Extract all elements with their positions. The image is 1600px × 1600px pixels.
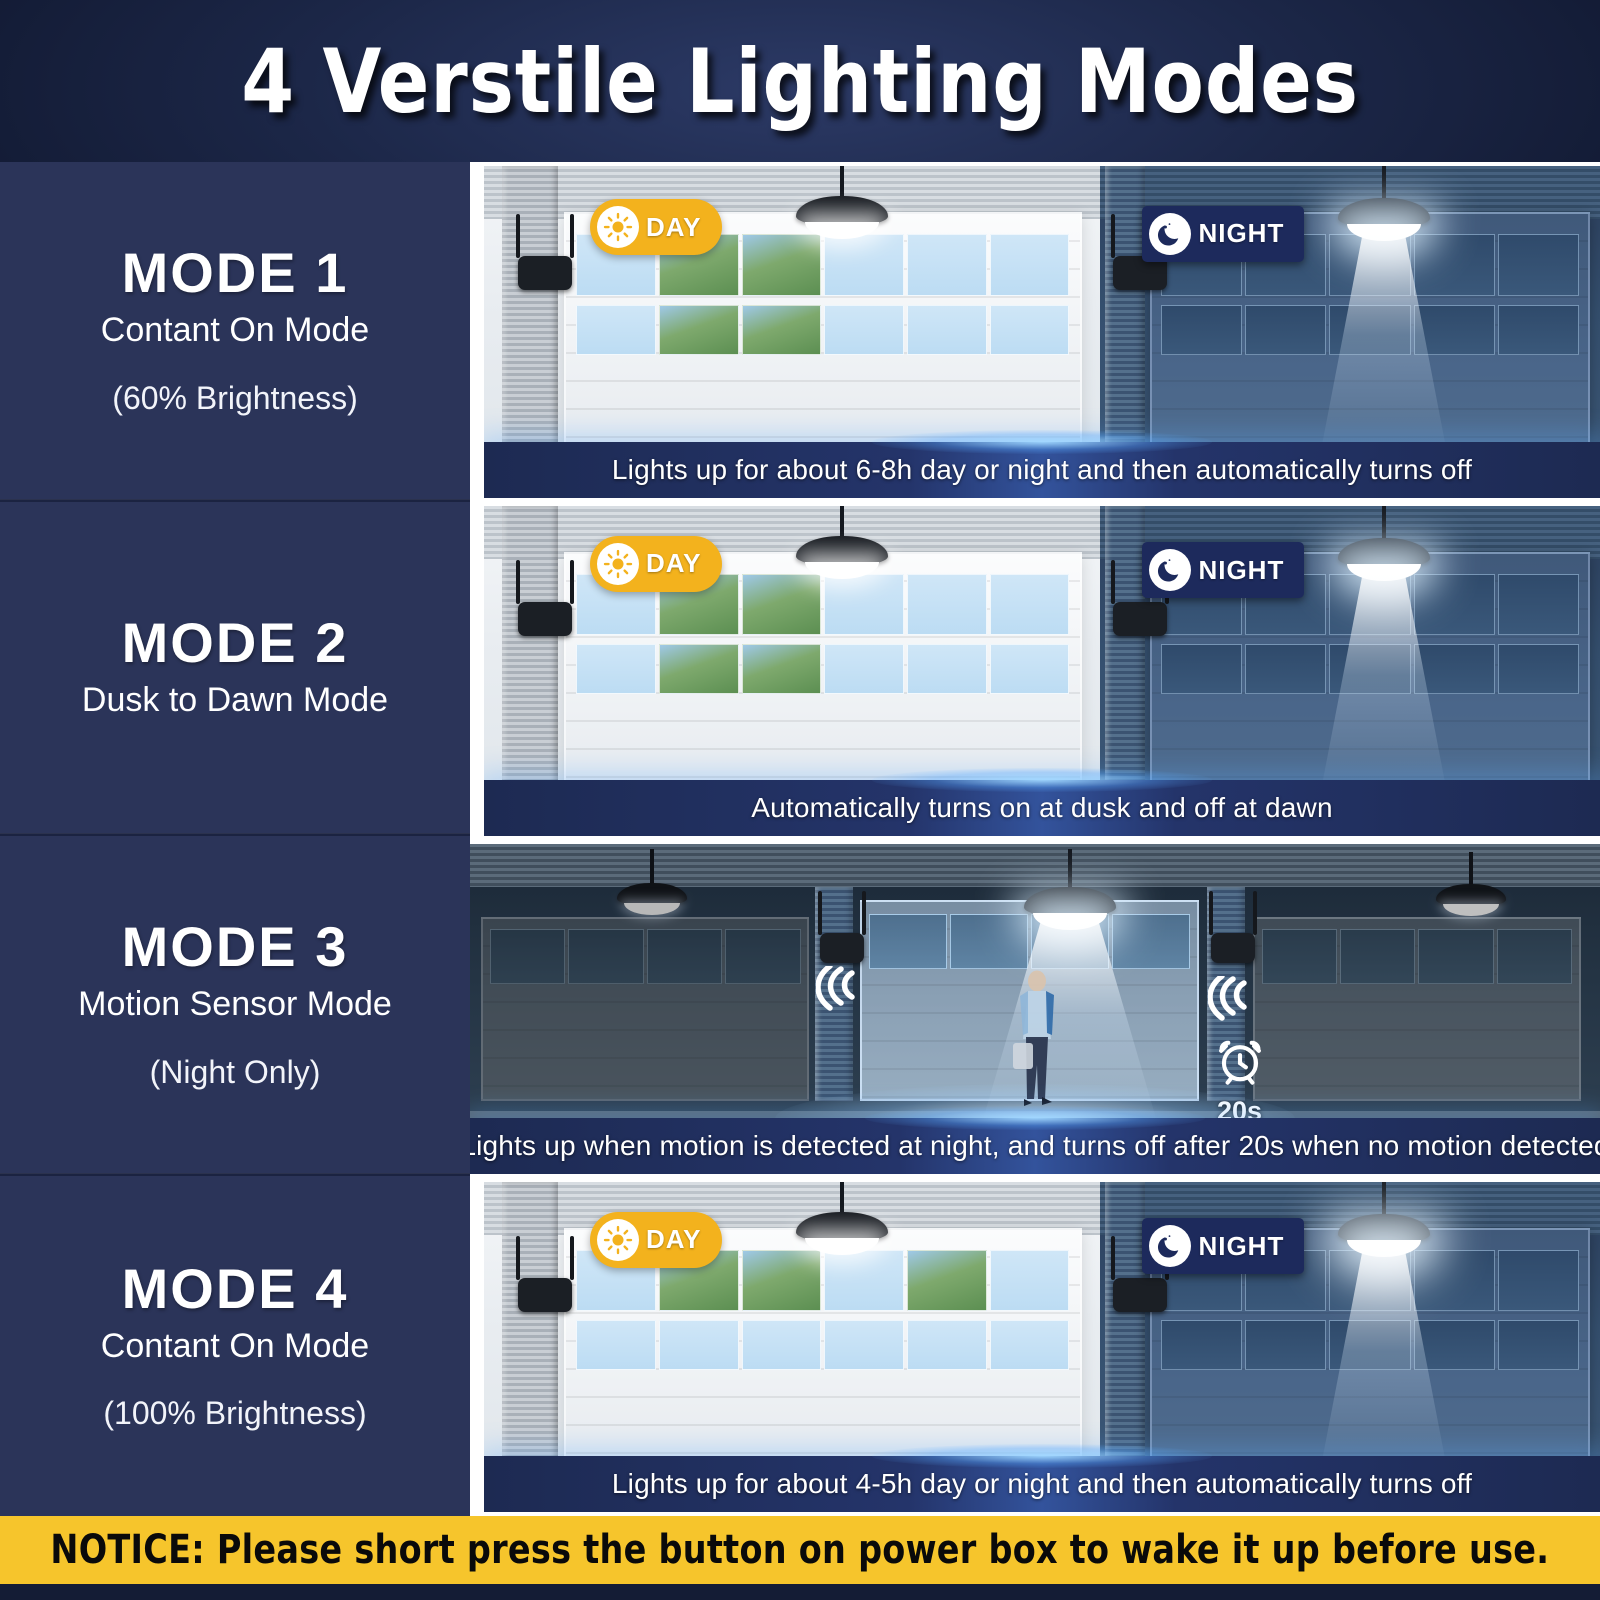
motion-waves-icon-left (816, 966, 874, 1012)
footer-strip (0, 1584, 1600, 1600)
door-window (1329, 574, 1410, 636)
hanging-lamp-day (796, 1182, 888, 1242)
hanging-lamp-left (617, 849, 687, 899)
door-window (869, 914, 947, 969)
night-badge-label: NIGHT (1198, 1231, 1284, 1262)
door-window (742, 644, 822, 694)
power-box (1113, 602, 1167, 636)
door-window (1414, 1320, 1495, 1370)
door-window (576, 305, 656, 356)
garage-door-bay-1 (481, 917, 809, 1102)
door-window (1329, 305, 1410, 356)
day-badge: DAY (590, 1212, 722, 1268)
mode-4-subtitle: Contant On Mode (101, 1325, 369, 1368)
door-window (1245, 1320, 1326, 1370)
caption-text: Lights up for about 6-8h day or night an… (612, 454, 1472, 486)
upper-wall-band (484, 506, 1100, 559)
door-window (1414, 644, 1495, 694)
moon-icon (1149, 1225, 1191, 1267)
scene-panel-mode-2: DAY NIGHT Automatically turns on at dusk… (484, 506, 1600, 836)
door-window (1161, 305, 1242, 356)
door-window (907, 574, 987, 636)
sidebar-item-mode-2[interactable]: MODE 2 Dusk to Dawn Mode (0, 502, 470, 836)
alarm-clock-icon (1214, 1035, 1266, 1087)
door-window (907, 644, 987, 694)
door-window (659, 305, 739, 356)
notice-text: NOTICE: Please short press the button on… (51, 1527, 1550, 1573)
door-window (659, 1320, 739, 1370)
door-window (1161, 644, 1242, 694)
door-window-row-bottom (1161, 305, 1580, 356)
door-window (1329, 644, 1410, 694)
door-window (1245, 644, 1326, 694)
door-window (1414, 1250, 1495, 1312)
door-window (907, 305, 987, 356)
door-window (990, 234, 1070, 296)
mode-2-title: MODE 2 (122, 613, 349, 673)
scene-panel-mode-4: DAY NIGHT Lights up for about 4-5h day o… (484, 1182, 1600, 1512)
mode-3-note: (Night Only) (150, 1052, 321, 1092)
night-badge: NIGHT (1142, 1218, 1304, 1274)
door-window (990, 644, 1070, 694)
door-window (742, 574, 822, 636)
door-window (1329, 1320, 1410, 1370)
day-badge: DAY (590, 199, 722, 255)
lamp-cord (1469, 852, 1473, 886)
power-box (1113, 1278, 1167, 1312)
mode-4-note: (100% Brightness) (103, 1393, 366, 1433)
door-window (742, 1320, 822, 1370)
mode-1-note: (60% Brightness) (112, 378, 357, 418)
notice-bar: NOTICE: Please short press the button on… (0, 1516, 1600, 1584)
lamp-cord (1382, 1182, 1386, 1218)
mode-3-title: MODE 3 (122, 917, 349, 977)
door-window-row (1262, 929, 1573, 983)
power-box-left (820, 933, 864, 963)
lamp-cord (1068, 849, 1072, 889)
door-window (1414, 574, 1495, 636)
day-badge-label: DAY (646, 1224, 702, 1255)
door-window (907, 1250, 987, 1312)
hanging-lamp-night (1338, 1182, 1430, 1242)
door-window-row (490, 929, 801, 983)
caption-text: Lights up for about 4-5h day or night an… (612, 1468, 1472, 1500)
door-window (659, 644, 739, 694)
door-window (742, 1250, 822, 1312)
door-window (1414, 305, 1495, 356)
panel-4-caption: Lights up for about 4-5h day or night an… (484, 1456, 1600, 1512)
door-window (742, 305, 822, 356)
garage-scene-motion-night: 20s 100% brightness (470, 844, 1600, 1174)
lamp-bulb (624, 903, 680, 915)
hanging-lamp-right (1436, 852, 1506, 902)
door-window (1112, 914, 1190, 969)
night-badge: NIGHT (1142, 206, 1304, 262)
power-box-right (1211, 933, 1255, 963)
moon-icon (1149, 549, 1191, 591)
door-window (1498, 1320, 1579, 1370)
sun-icon (597, 543, 639, 585)
door-window (824, 1320, 904, 1370)
caption-text: Automatically turns on at dusk and off a… (751, 792, 1332, 824)
door-window (1498, 305, 1579, 356)
door-window (990, 305, 1070, 356)
door-window-row (869, 914, 1191, 969)
power-box (518, 1278, 572, 1312)
door-window (1498, 574, 1579, 636)
lamp-cord (1382, 166, 1386, 202)
door-window (907, 1320, 987, 1370)
panel-3-caption: Lights up when motion is detected at nig… (470, 1118, 1600, 1174)
door-window (1414, 234, 1495, 296)
panel-1-caption: Lights up for about 6-8h day or night an… (484, 442, 1600, 498)
door-window (1329, 1250, 1410, 1312)
hanging-lamp-day (796, 166, 888, 226)
mode-3-subtitle: Motion Sensor Mode (78, 983, 392, 1026)
door-window (1418, 929, 1493, 983)
lamp-bulb (1443, 904, 1499, 916)
door-window (824, 644, 904, 694)
door-window-row-bottom (576, 1320, 1069, 1370)
door-window (1245, 305, 1326, 356)
door-window (1498, 644, 1579, 694)
door-window (824, 1250, 904, 1312)
sidebar-item-mode-1[interactable]: MODE 1 Contant On Mode (60% Brightness) (0, 162, 470, 502)
door-window-row-bottom (576, 644, 1069, 694)
day-badge-label: DAY (646, 212, 702, 243)
garage-scene-day-night: DAY NIGHT Lights up for about 4-5h day o… (484, 1182, 1600, 1512)
page-title: 4 Verstile Lighting Modes (241, 30, 1359, 133)
upper-wall-band (484, 166, 1100, 219)
page-header: 4 Verstile Lighting Modes (0, 0, 1600, 162)
door-window (576, 644, 656, 694)
power-box (518, 256, 572, 290)
scene-panel-mode-1: DAY NIGHT Lights up for about 6-8h day o… (484, 166, 1600, 498)
door-window (742, 234, 822, 296)
door-window (1161, 1320, 1242, 1370)
garage-door-bay-3 (1253, 917, 1581, 1102)
garage-scene-day-night: DAY NIGHT Automatically turns on at dusk… (484, 506, 1600, 836)
panel-2-caption: Automatically turns on at dusk and off a… (484, 780, 1600, 836)
door-window-row-bottom (1161, 1320, 1580, 1370)
day-badge: DAY (590, 536, 722, 592)
lamp-cord (1382, 506, 1386, 542)
lamp-cord (840, 1182, 844, 1216)
lamp-cord (650, 849, 654, 885)
door-window (1498, 234, 1579, 296)
scene-panel-mode-3: 20s 100% brightness (470, 844, 1600, 1174)
door-window (490, 929, 565, 983)
moon-icon (1149, 213, 1191, 255)
door-window-row-bottom (576, 305, 1069, 356)
walking-person (1006, 969, 1068, 1114)
lamp-cord (840, 506, 844, 540)
mode-1-title: MODE 1 (122, 243, 349, 303)
door-window (990, 574, 1070, 636)
sidebar-item-mode-4[interactable]: MODE 4 Contant On Mode (100% Brightness) (0, 1176, 470, 1516)
door-window (824, 574, 904, 636)
door-window (1329, 234, 1410, 296)
door-window (647, 929, 722, 983)
sidebar-item-mode-3[interactable]: MODE 3 Motion Sensor Mode (Night Only) (0, 836, 470, 1176)
mode-1-subtitle: Contant On Mode (101, 309, 369, 352)
hanging-lamp-center (1024, 849, 1116, 909)
scene-panel-column: DAY NIGHT Lights up for about 6-8h day o… (470, 162, 1600, 1516)
hanging-lamp-day (796, 506, 888, 566)
door-window (576, 1320, 656, 1370)
sun-icon (597, 206, 639, 248)
caption-text: Lights up when motion is detected at nig… (470, 1130, 1600, 1162)
hanging-lamp-night (1338, 506, 1430, 566)
upper-wall-band (484, 1182, 1100, 1235)
door-window (1498, 1250, 1579, 1312)
door-window (950, 914, 1028, 969)
door-window (824, 305, 904, 356)
sun-icon (597, 1219, 639, 1261)
mode-2-subtitle: Dusk to Dawn Mode (82, 679, 388, 722)
motion-waves-icon-right (1208, 976, 1266, 1022)
door-window (824, 234, 904, 296)
lamp-cord (840, 166, 844, 200)
door-window-row-bottom (1161, 644, 1580, 694)
mode-4-title: MODE 4 (122, 1259, 349, 1319)
door-window (990, 1320, 1070, 1370)
door-window (1262, 929, 1337, 983)
infographic-page: 4 Verstile Lighting Modes MODE 1 Contant… (0, 0, 1600, 1600)
timer-indicator: 20s (1205, 1035, 1275, 1127)
door-window (907, 234, 987, 296)
hanging-lamp-night (1338, 166, 1430, 226)
night-badge-label: NIGHT (1198, 555, 1284, 586)
day-badge-label: DAY (646, 548, 702, 579)
night-badge: NIGHT (1142, 542, 1304, 598)
power-box (518, 602, 572, 636)
door-window (990, 1250, 1070, 1312)
door-window (568, 929, 643, 983)
night-badge-label: NIGHT (1198, 218, 1284, 249)
door-window (1497, 929, 1572, 983)
mode-sidebar: MODE 1 Contant On Mode (60% Brightness) … (0, 162, 470, 1516)
garage-scene-day-night: DAY NIGHT Lights up for about 6-8h day o… (484, 166, 1600, 498)
door-window (1340, 929, 1415, 983)
door-window (725, 929, 800, 983)
